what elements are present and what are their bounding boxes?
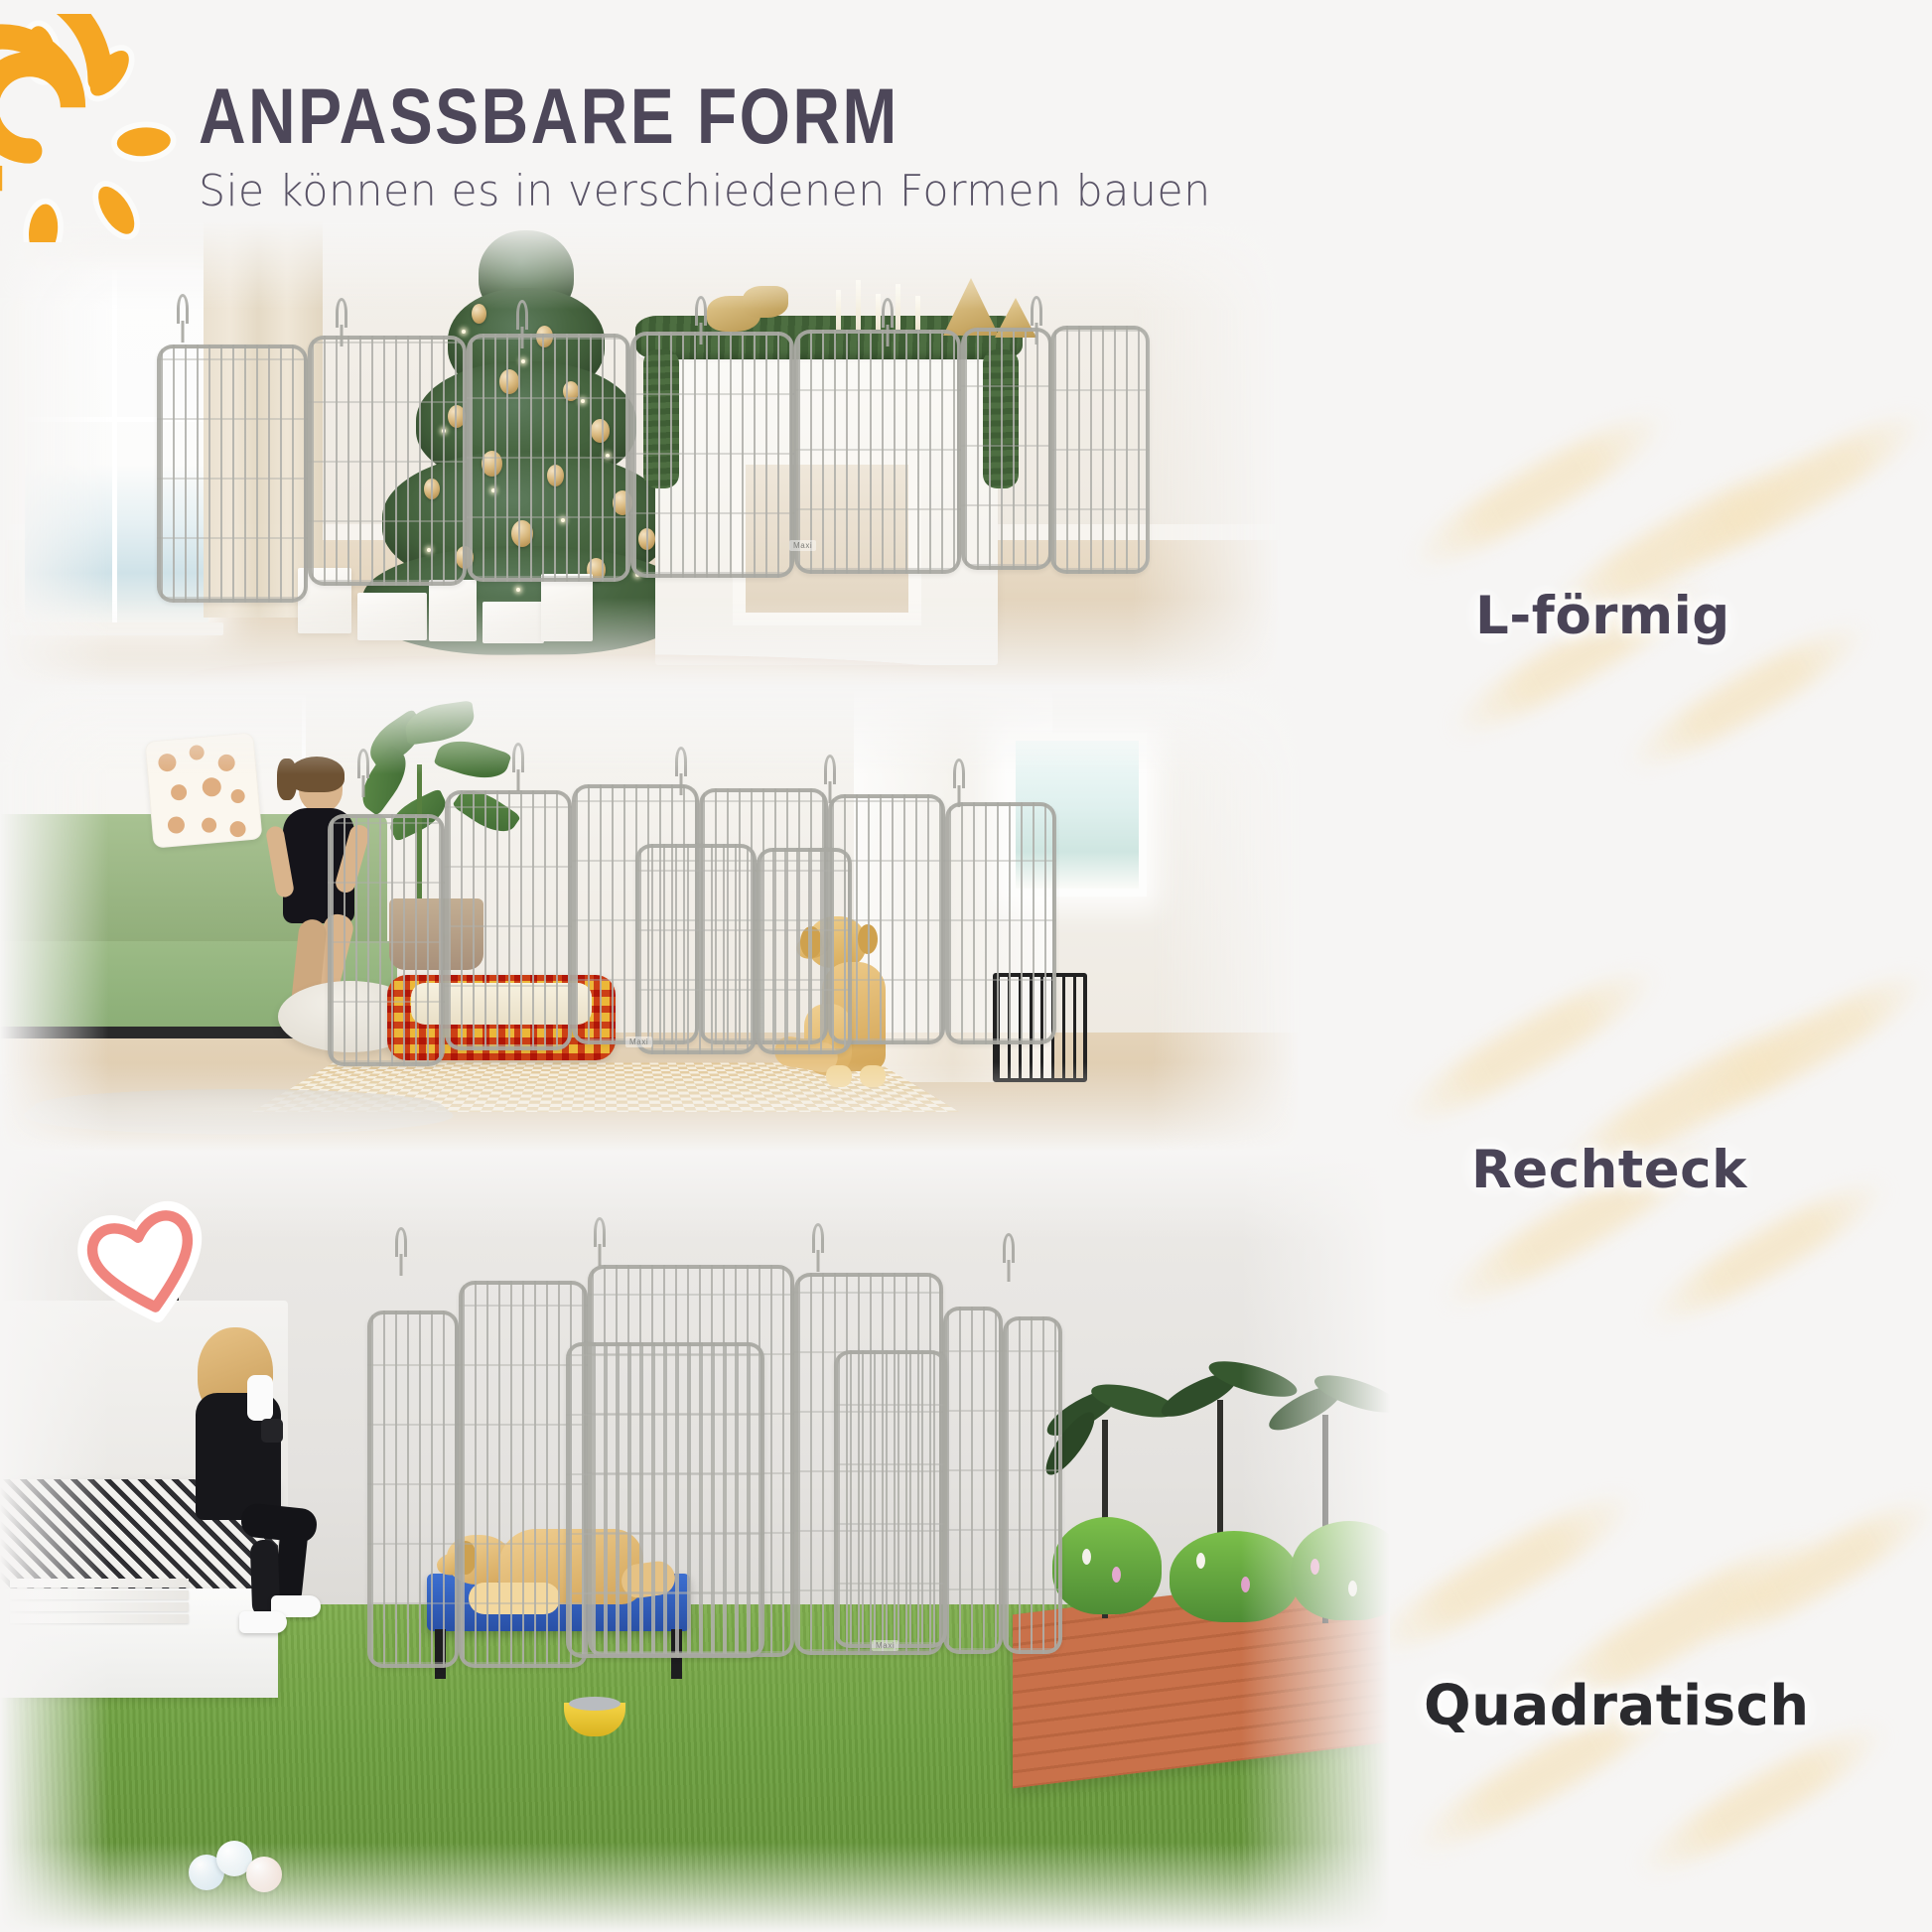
shape-label-l-shaped: L-förmig <box>1475 586 1730 646</box>
brand-logo-label: Maxi <box>789 540 816 551</box>
playpen-rectangular: Maxi <box>328 776 1062 1086</box>
photo-rectangular-playpen: Maxi <box>0 685 1301 1152</box>
book-stack <box>10 1579 189 1634</box>
toy-balls <box>189 1841 308 1894</box>
sun-spiral-logo-icon <box>0 14 199 242</box>
playpen-l-shaped: Maxi <box>139 320 1152 637</box>
shape-label-rectangle: Rechteck <box>1471 1140 1747 1200</box>
flower <box>1348 1581 1357 1596</box>
flower <box>1241 1577 1250 1592</box>
reindeer-figurine <box>743 286 788 318</box>
playpen-square: Maxi <box>367 1251 1062 1718</box>
polka-dot-pillow <box>145 732 263 848</box>
header: ANPASSBARE FORM Sie können es in verschi… <box>0 0 1932 248</box>
shrub <box>1170 1531 1299 1622</box>
shrub <box>1291 1521 1390 1620</box>
shrub <box>1052 1517 1162 1614</box>
flower <box>1082 1549 1091 1565</box>
page-subtitle: Sie können es in verschiedenen Formen ba… <box>199 166 1211 216</box>
shape-label-square: Quadratisch <box>1424 1674 1810 1738</box>
marketing-page: Maxi <box>0 0 1932 1932</box>
flower <box>1311 1559 1319 1575</box>
palm-plant <box>1261 1375 1390 1524</box>
brand-logo-label: Maxi <box>625 1036 652 1047</box>
flower <box>1112 1567 1121 1583</box>
flower <box>1196 1553 1205 1569</box>
page-title: ANPASSBARE FORM <box>199 77 1211 157</box>
brand-logo-label: Maxi <box>872 1640 898 1651</box>
photo-l-shaped-playpen: Maxi <box>0 220 1281 687</box>
heart-sticker <box>69 1186 218 1335</box>
woman-with-mug <box>174 1335 333 1623</box>
